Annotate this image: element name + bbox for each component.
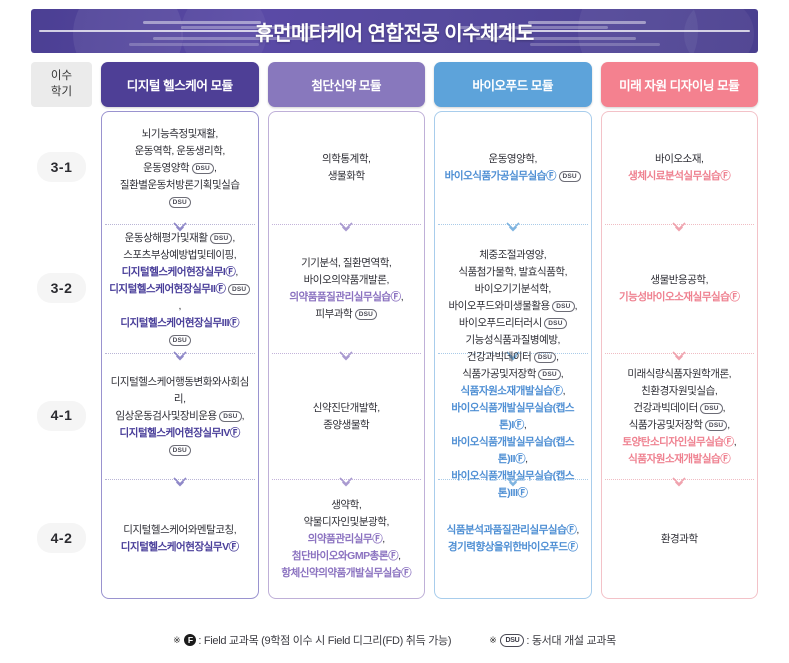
- course-line: 운동영양학 DSU,: [108, 160, 252, 177]
- course-line: 건강과빅데이터 DSU,: [608, 400, 752, 417]
- course-line: 경기력향상을위한바이오푸드Ⓕ: [441, 539, 585, 556]
- module-column-digital-healthcare: 뇌기능측정및재활,운동역학, 운동생리학,운동영양학 DSU,질환별운동처방론기…: [101, 111, 259, 599]
- dsu-badge-icon: DSU: [169, 445, 191, 456]
- course-line: 피부과학 DSU: [275, 306, 419, 323]
- field-course-name: 바이오식품가공실무실습Ⓕ: [445, 170, 556, 182]
- dsu-badge-icon: DSU: [192, 163, 214, 174]
- course-line: 디지털헬스케어현장실무IIⒻ DSU,: [108, 281, 252, 315]
- page-banner: 휴먼메타케어 연합전공 이수체계도: [31, 9, 758, 53]
- course-cell-ph-3-2: 기기분석, 질환면역학,바이오의약품개발론,의약품품질관리실무실습Ⓕ,피부과학 …: [269, 225, 425, 353]
- course-line: 운동영양학,: [441, 151, 585, 168]
- dsu-badge-icon: DSU: [700, 403, 722, 414]
- field-course-name: 경기력향상을위한바이오푸드Ⓕ: [448, 541, 578, 553]
- field-course-name: 첨단바이오와GMP총론Ⓕ: [292, 550, 398, 562]
- field-course-name: 생체시료분석실무실습Ⓕ: [628, 170, 730, 182]
- course-line: 디지털헬스케어현장실무VⒻ: [108, 539, 252, 556]
- course-line: 바이오기기분석학,: [441, 281, 585, 298]
- course-cell-bf-3-1: 운동영양학,바이오식품가공실무실습Ⓕ DSU: [435, 112, 591, 224]
- semester-pill: 3-1: [37, 152, 86, 182]
- dsu-badge-icon: DSU: [544, 318, 566, 329]
- course-line: 생물반응공학,: [608, 272, 752, 289]
- semester-cell-4-2: 4-2: [31, 479, 92, 597]
- curriculum-grid: 이수 학기 디지털 헬스케어 모듈 첨단신약 모듈 바이오푸드 모듈 미래 자원…: [31, 62, 758, 599]
- dsu-badge-icon: DSU: [169, 197, 191, 208]
- course-cell-fr-3-2: 생물반응공학,기능성바이오소재실무실습Ⓕ: [602, 225, 758, 353]
- course-line: 토양탄소디자인실무실습Ⓕ,: [608, 434, 752, 451]
- module-header-row: 이수 학기 디지털 헬스케어 모듈 첨단신약 모듈 바이오푸드 모듈 미래 자원…: [31, 62, 758, 107]
- field-course-name: 바이오식품개발실무실습(캡스톤)IⒻ: [451, 402, 574, 431]
- dsu-badge-icon: DSU: [559, 171, 581, 182]
- course-line: 생약학,: [275, 497, 419, 514]
- course-line: 디지털헬스케어행동변화와사회심리,: [108, 374, 252, 408]
- semester-pill: 4-1: [37, 401, 86, 431]
- field-course-name: 디지털헬스케어현장실무IⒻ: [122, 266, 236, 278]
- field-course-name: 의약품관리실무Ⓕ: [308, 533, 383, 545]
- dsu-badge-icon: DSU: [210, 233, 232, 244]
- field-course-name: 디지털헬스케어현장실무VⒻ: [121, 541, 239, 553]
- course-line: 신약진단개발학,: [275, 400, 419, 417]
- dsu-badge-icon: DSU: [355, 309, 377, 320]
- module-header-future-resource[interactable]: 미래 자원 디자이닝 모듈: [601, 62, 759, 107]
- course-line: 바이오의약품개발론,: [275, 272, 419, 289]
- course-line: 바이오식품개발실무실습(캡스톤)IIⒻ,: [441, 434, 585, 468]
- semester-column: 3-1 3-2 4-1 4-2: [31, 111, 92, 599]
- field-course-name: 디지털헬스케어현장실무IVⒻ: [120, 427, 240, 439]
- course-line: 운동역학, 운동생리학,: [108, 143, 252, 160]
- module-column-biofood: 운동영양학,바이오식품가공실무실습Ⓕ DSU 체중조절과영양,식품첨가물학, 발…: [434, 111, 592, 599]
- dsu-badge-icon: DSU: [538, 369, 560, 380]
- curriculum-diagram-page: 휴먼메타케어 연합전공 이수체계도 이수 학기 디지털 헬스케어 모듈 첨단신약…: [0, 9, 789, 663]
- legend-field-text: : Field 교과목 (9학점 이수 시 Field 디그리(FD) 취득 가…: [198, 632, 451, 648]
- field-course-name: 식품자원소재개발실습Ⓕ: [460, 385, 562, 397]
- course-line: 친환경자원및실습,: [608, 383, 752, 400]
- course-line: 식품가공및저장학 DSU,: [441, 366, 585, 383]
- course-line: 디지털헬스케어와멘탈코칭,: [108, 522, 252, 539]
- field-course-name: 식품분석과품질관리실무실습Ⓕ: [447, 524, 577, 536]
- semester-pill: 3-2: [37, 273, 86, 303]
- course-line: 생물화학: [275, 168, 419, 185]
- legend-dsu-course: ※ DSU : 동서대 개설 교과목: [489, 632, 616, 648]
- dsu-badge-icon: DSU: [705, 420, 727, 431]
- course-cell-dh-4-1: 디지털헬스케어행동변화와사회심리,임상운동검사및장비운용 DSU,디지털헬스케어…: [102, 354, 258, 479]
- course-cell-dh-4-2: 디지털헬스케어와멘탈코칭,디지털헬스케어현장실무VⒻ: [102, 480, 258, 598]
- course-line: 뇌기능측정및재활,: [108, 126, 252, 143]
- course-cell-ph-4-2: 생약학,약물디자인및분광학,의약품관리실무Ⓕ,첨단바이오와GMP총론Ⓕ,항체신약…: [269, 480, 425, 598]
- semester-cell-3-1: 3-1: [31, 111, 92, 223]
- course-line: 기기분석, 질환면역학,: [275, 255, 419, 272]
- course-line: 건강과빅데이터 DSU,: [441, 349, 585, 366]
- dsu-badge-icon: DSU: [169, 335, 191, 346]
- dsu-badge-icon: DSU: [552, 301, 574, 312]
- legend-field-course: ※ F : Field 교과목 (9학점 이수 시 Field 디그리(FD) …: [173, 632, 451, 648]
- course-cell-bf-4-2: 식품분석과품질관리실무실습Ⓕ,경기력향상을위한바이오푸드Ⓕ: [435, 480, 591, 598]
- field-course-name: 기능성바이오소재실무실습Ⓕ: [619, 291, 740, 303]
- course-line: 바이오푸드리터러시 DSU: [441, 315, 585, 332]
- semester-cell-3-2: 3-2: [31, 224, 92, 352]
- course-line: 디지털헬스케어현장실무IVⒻ DSU: [108, 425, 252, 459]
- field-course-name: 바이오식품개발실무실습(캡스톤)IIⒻ: [451, 436, 574, 465]
- semester-column-header: 이수 학기: [31, 62, 92, 107]
- course-cell-ph-4-1: 신약진단개발학,종양생물학: [269, 354, 425, 479]
- course-line: 바이오소재,: [608, 151, 752, 168]
- course-cell-ph-3-1: 의학통계학,생물화학: [269, 112, 425, 224]
- course-line: 바이오식품개발실무실습(캡스톤)IⒻ,: [441, 400, 585, 434]
- field-course-name: 항체신약의약품개발실무실습Ⓕ: [281, 567, 411, 579]
- field-course-name: 의약품품질관리실무실습Ⓕ: [289, 291, 400, 303]
- legend-footer: ※ F : Field 교과목 (9학점 이수 시 Field 디그리(FD) …: [31, 625, 758, 655]
- course-line: 식품가공및저장학 DSU,: [608, 417, 752, 434]
- dsu-badge-icon: DSU: [534, 352, 556, 363]
- course-cell-fr-3-1: 바이오소재,생체시료분석실무실습Ⓕ: [602, 112, 758, 224]
- semester-header-line2: 학기: [51, 85, 72, 101]
- field-course-name: 식품자원소재개발실습Ⓕ: [628, 453, 730, 465]
- course-cell-bf-4-1: 기능성식품과질병예방,건강과빅데이터 DSU,식품가공및저장학 DSU,식품자원…: [435, 354, 591, 479]
- course-line: 기능성식품과질병예방,: [441, 332, 585, 349]
- course-line: 첨단바이오와GMP총론Ⓕ,: [275, 548, 419, 565]
- dsu-badge-icon: DSU: [228, 284, 250, 295]
- course-line: 의약품관리실무Ⓕ,: [275, 531, 419, 548]
- dsu-badge-icon: DSU: [219, 411, 241, 422]
- course-line: 디지털헬스케어현장실무IⒻ,: [108, 264, 252, 281]
- course-line: 식품첨가물학, 발효식품학,: [441, 264, 585, 281]
- page-title: 휴먼메타케어 연합전공 이수체계도: [241, 17, 548, 46]
- course-line: 스포츠부상예방법및테이핑,: [108, 247, 252, 264]
- course-line: 의약품품질관리실무실습Ⓕ,: [275, 289, 419, 306]
- course-line: 운동상해평가및재활 DSU,: [108, 230, 252, 247]
- module-header-digital-healthcare[interactable]: 디지털 헬스케어 모듈: [101, 62, 259, 107]
- course-line: 바이오식품가공실무실습Ⓕ DSU: [441, 168, 585, 185]
- module-header-biofood[interactable]: 바이오푸드 모듈: [434, 62, 592, 107]
- course-cell-fr-4-2: 환경과학: [602, 480, 758, 598]
- course-line: 임상운동검사및장비운용 DSU,: [108, 408, 252, 425]
- course-line: 종양생물학: [275, 417, 419, 434]
- course-line: 질환별운동처방론기획및실습 DSU: [108, 177, 252, 211]
- legend-star-icon: ※: [489, 635, 496, 646]
- module-header-advanced-pharma[interactable]: 첨단신약 모듈: [268, 62, 426, 107]
- semester-header-line1: 이수: [51, 69, 72, 85]
- course-line: 약물디자인및분광학,: [275, 514, 419, 531]
- course-line: 의학통계학,: [275, 151, 419, 168]
- course-line: 바이오푸드와미생물활용 DSU,: [441, 298, 585, 315]
- course-line: 기능성바이오소재실무실습Ⓕ: [608, 289, 752, 306]
- course-line: 식품자원소재개발실습Ⓕ: [608, 451, 752, 468]
- semester-cell-4-1: 4-1: [31, 353, 92, 478]
- course-line: 항체신약의약품개발실무실습Ⓕ: [275, 565, 419, 582]
- course-line: 식품분석과품질관리실무실습Ⓕ,: [441, 522, 585, 539]
- module-column-future-resource: 바이오소재,생체시료분석실무실습Ⓕ 생물반응공학,기능성바이오소재실무실습Ⓕ: [601, 111, 759, 599]
- course-line: 생체시료분석실무실습Ⓕ: [608, 168, 752, 185]
- course-cell-dh-3-1: 뇌기능측정및재활,운동역학, 운동생리학,운동영양학 DSU,질환별운동처방론기…: [102, 112, 258, 224]
- field-course-name: 디지털헬스케어현장실무IIIⒻ: [120, 317, 239, 329]
- legend-dsu-text: : 동서대 개설 교과목: [526, 632, 616, 648]
- course-cell-dh-3-2: 운동상해평가및재활 DSU,스포츠부상예방법및테이핑,디지털헬스케어현장실무IⒻ…: [102, 225, 258, 353]
- course-cell-fr-4-1: 미래식량식품자원학개론,친환경자원및실습,건강과빅데이터 DSU,식품가공및저장…: [602, 354, 758, 479]
- field-course-icon: F: [184, 634, 196, 646]
- course-line: 환경과학: [608, 531, 752, 548]
- grid-body: 3-1 3-2 4-1 4-2 뇌기능측정및재활,운동역학, 운동생리학,운동: [31, 111, 758, 599]
- course-line: 디지털헬스케어현장실무IIIⒻ DSU: [108, 315, 252, 349]
- course-line: 미래식량식품자원학개론,: [608, 366, 752, 383]
- field-course-name: 디지털헬스케어현장실무IIⒻ: [109, 283, 225, 295]
- semester-pill: 4-2: [37, 523, 86, 553]
- field-course-name: 토양탄소디자인실무실습Ⓕ: [622, 436, 733, 448]
- module-column-advanced-pharma: 의학통계학,생물화학 기기분석, 질환면역학,바이오의약품개발론,의약품품질관리…: [268, 111, 426, 599]
- dsu-badge-icon: DSU: [500, 634, 524, 647]
- course-line: 식품자원소재개발실습Ⓕ,: [441, 383, 585, 400]
- course-line: 체중조절과영양,: [441, 247, 585, 264]
- legend-star-icon: ※: [173, 635, 180, 646]
